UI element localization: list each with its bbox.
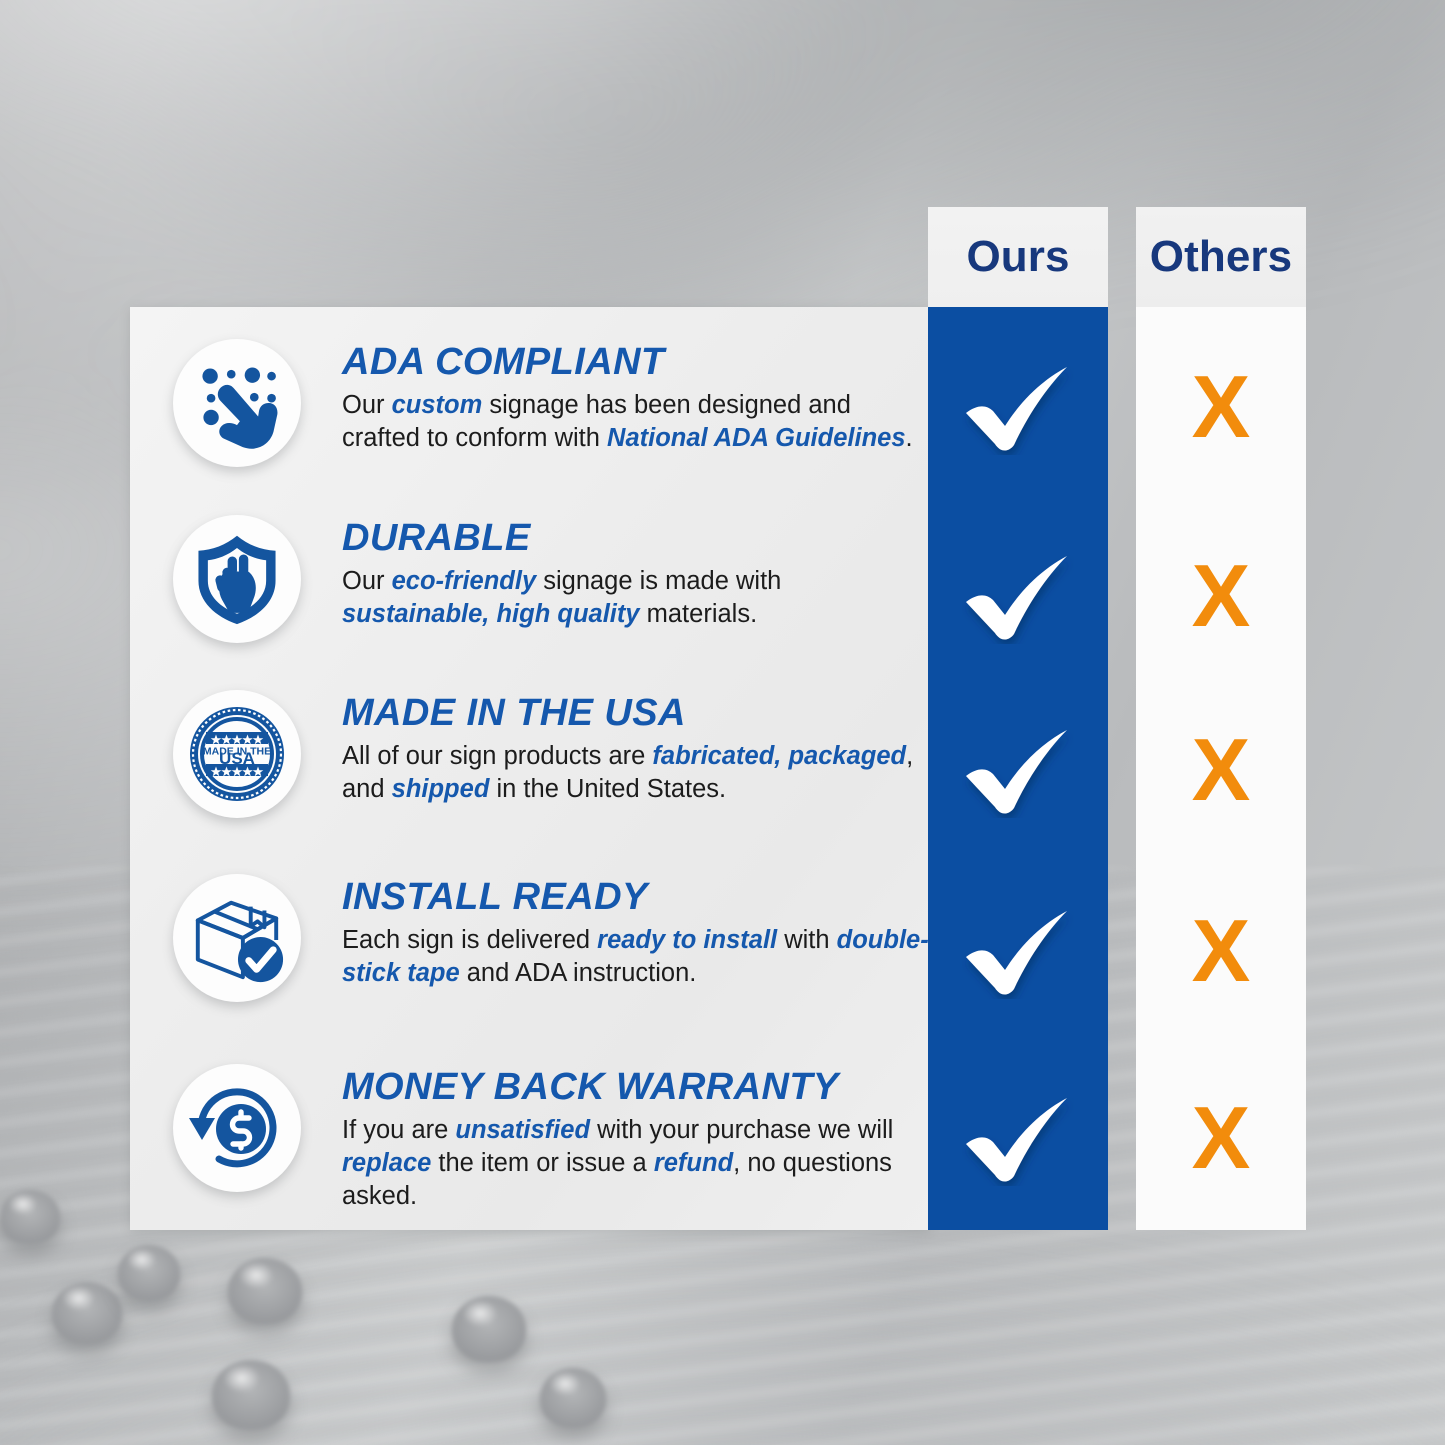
feature-row: MONEY BACK WARRANTY If you are unsatisfi… — [130, 1046, 930, 1230]
features-card: ADA COMPLIANT Our custom signage has bee… — [130, 307, 930, 1230]
others-column-header: Others — [1136, 207, 1306, 307]
others-column-body: X X X X X — [1136, 307, 1306, 1230]
feature-icon-slot — [164, 1064, 310, 1192]
icon-disc: MADE IN THE USA — [173, 690, 301, 818]
feature-text: ADA COMPLIANT Our custom signage has bee… — [310, 339, 930, 455]
braille-hand-icon — [189, 355, 285, 451]
x-mark-icon: X — [1192, 907, 1251, 995]
others-x-cell: X — [1136, 856, 1306, 1046]
feature-icon-slot — [164, 874, 310, 1002]
check-mark-icon — [962, 548, 1074, 644]
ours-check-cell — [928, 307, 1108, 507]
feature-icon-slot — [164, 339, 310, 467]
feature-text: MONEY BACK WARRANTY If you are unsatisfi… — [310, 1064, 930, 1214]
icon-disc — [173, 874, 301, 1002]
feature-description: Each sign is delivered ready to install … — [342, 924, 930, 991]
ours-check-cell — [928, 684, 1108, 856]
feature-text: INSTALL READY Each sign is delivered rea… — [310, 874, 930, 990]
package-check-icon — [188, 889, 286, 987]
feature-description: If you are unsatisfied with your purchas… — [342, 1114, 930, 1214]
feature-icon-slot — [164, 515, 310, 643]
ours-check-cell — [928, 856, 1108, 1046]
icon-disc — [173, 515, 301, 643]
feature-title: DURABLE — [342, 519, 930, 559]
others-x-cell: X — [1136, 1046, 1306, 1230]
ours-check-cell — [928, 507, 1108, 684]
feature-description: Our custom signage has been designed and… — [342, 389, 930, 456]
others-column: Others X X X X X — [1136, 207, 1306, 1230]
feature-row: DURABLE Our eco-friendly signage is made… — [130, 507, 930, 684]
x-mark-icon: X — [1192, 363, 1251, 451]
check-mark-icon — [962, 903, 1074, 999]
feature-title: MADE IN THE USA — [342, 694, 930, 734]
background-braille-dot — [212, 1360, 290, 1430]
made-in-usa-badge-icon: MADE IN THE USA — [187, 704, 287, 804]
ours-column-header: Ours — [928, 207, 1108, 307]
background-braille-dot — [0, 1190, 60, 1244]
infographic-canvas: Ours — [0, 0, 1445, 1445]
check-mark-icon — [962, 359, 1074, 455]
feature-rows: ADA COMPLIANT Our custom signage has bee… — [130, 307, 930, 1230]
feature-description: All of our sign products are fabricated,… — [342, 740, 930, 807]
feature-row: INSTALL READY Each sign is delivered rea… — [130, 856, 930, 1046]
others-x-cell: X — [1136, 307, 1306, 507]
feature-title: ADA COMPLIANT — [342, 343, 930, 383]
ours-check-cell — [928, 1046, 1108, 1230]
icon-disc — [173, 339, 301, 467]
feature-title: INSTALL READY — [342, 878, 930, 918]
x-mark-icon: X — [1192, 552, 1251, 640]
others-x-cell: X — [1136, 684, 1306, 856]
x-mark-icon: X — [1192, 1094, 1251, 1182]
feature-row: MADE IN THE USA MADE IN THE USA All of o… — [130, 684, 930, 856]
icon-disc — [173, 1064, 301, 1192]
check-mark-icon — [962, 722, 1074, 818]
ours-column-body — [928, 307, 1108, 1230]
money-back-icon — [187, 1078, 287, 1178]
feature-title: MONEY BACK WARRANTY — [342, 1068, 930, 1108]
shield-fist-icon — [190, 532, 284, 626]
background-braille-dot — [52, 1282, 122, 1344]
feature-text: DURABLE Our eco-friendly signage is made… — [310, 515, 930, 631]
others-x-cell: X — [1136, 507, 1306, 684]
x-mark-icon: X — [1192, 726, 1251, 814]
badge-bottom-line: USA — [219, 749, 255, 768]
feature-description: Our eco-friendly signage is made with su… — [342, 565, 930, 632]
ours-column: Ours — [928, 207, 1108, 1230]
feature-icon-slot: MADE IN THE USA — [164, 690, 310, 818]
background-braille-dot — [118, 1245, 180, 1301]
feature-row: ADA COMPLIANT Our custom signage has bee… — [130, 307, 930, 507]
background-braille-dot — [540, 1368, 606, 1428]
feature-text: MADE IN THE USA All of our sign products… — [310, 690, 930, 806]
background-braille-dot — [228, 1258, 302, 1324]
background-braille-dot — [452, 1296, 526, 1362]
check-mark-icon — [962, 1090, 1074, 1186]
